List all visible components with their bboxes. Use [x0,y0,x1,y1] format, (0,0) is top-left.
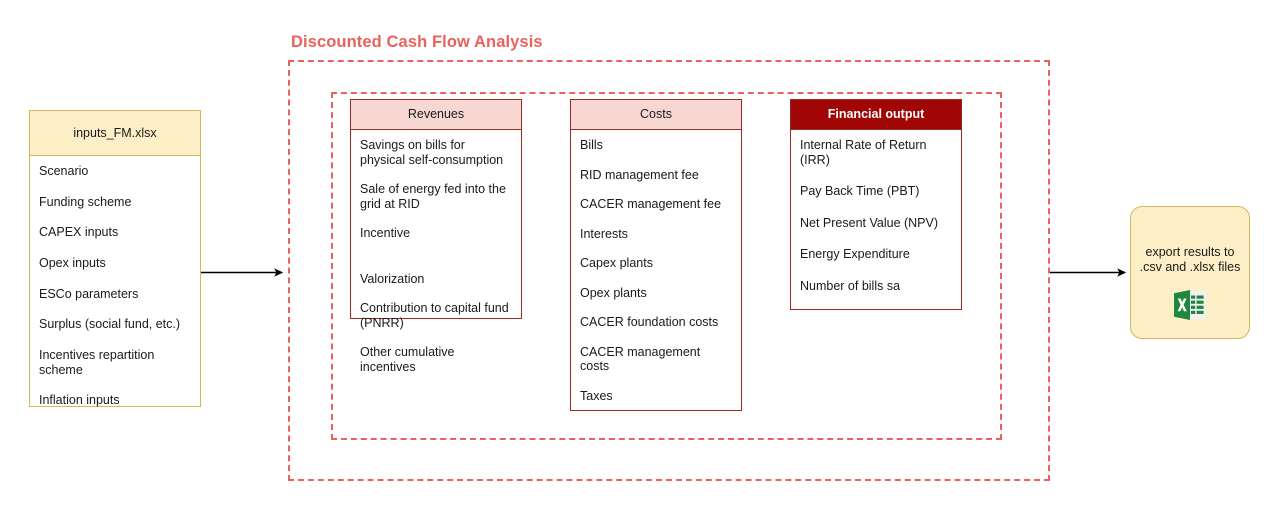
list-item: Contribution to capital fund (PNRR) [360,301,512,330]
list-item: Savings on bills for physical self-consu… [360,138,512,167]
costs-list: Bills RID management fee CACER managemen… [571,130,741,409]
list-item: ESCo parameters [39,287,191,302]
export-results-card[interactable]: export results to .csv and .xlsx files [1130,206,1250,339]
list-item: Other cumulative incentives [360,345,512,374]
list-item-blank [360,256,512,270]
diagram-canvas: Discounted Cash Flow Analysis inputs_FM.… [0,0,1281,511]
list-item: Bills [580,138,732,153]
list-item: Surplus (social fund, etc.) [39,317,191,332]
inputs-file-card[interactable]: inputs_FM.xlsx Scenario Funding scheme C… [29,110,201,407]
list-item: Interests [580,227,732,242]
list-item: Pay Back Time (PBT) [800,184,952,199]
list-item: CACER management fee [580,197,732,212]
list-item: Incentives repartition scheme [39,348,191,377]
inputs-to-analysis-arrow [195,260,295,286]
inputs-file-list: Scenario Funding scheme CAPEX inputs Ope… [30,156,200,430]
list-item: Inflation inputs [39,393,191,408]
list-item: CACER foundation costs [580,315,732,330]
list-item: Energy Expenditure [800,247,952,262]
excel-file-icon [1173,289,1207,321]
list-item: RID management fee [580,168,732,183]
list-item: Valorization [360,272,512,287]
list-item: Opex plants [580,286,732,301]
financial-output-title: Financial output [791,100,961,130]
list-item: Incentive [360,226,512,241]
list-item: CAPEX inputs [39,225,191,240]
list-item: CACER management costs [580,345,732,374]
financial-output-list: Internal Rate of Return (IRR) Pay Back T… [791,130,961,316]
list-item: Net Present Value (NPV) [800,216,952,231]
revenues-card[interactable]: Revenues Savings on bills for physical s… [350,99,522,319]
list-item: Number of bills sa [800,279,952,294]
inputs-file-title: inputs_FM.xlsx [30,111,200,156]
list-item: Opex inputs [39,256,191,271]
page-title: Discounted Cash Flow Analysis [291,33,543,52]
financial-output-card[interactable]: Financial output Internal Rate of Return… [790,99,962,310]
list-item: Sale of energy fed into the grid at RID [360,182,512,211]
list-item: Internal Rate of Return (IRR) [800,138,952,167]
analysis-to-export-arrow [1044,260,1140,286]
export-results-label: export results to .csv and .xlsx files [1131,245,1249,275]
revenues-list: Savings on bills for physical self-consu… [351,130,521,380]
revenues-title: Revenues [351,100,521,130]
list-item: Funding scheme [39,195,191,210]
list-item: Capex plants [580,256,732,271]
costs-title: Costs [571,100,741,130]
list-item: Taxes [580,389,732,404]
costs-card[interactable]: Costs Bills RID management fee CACER man… [570,99,742,411]
list-item: Scenario [39,164,191,179]
